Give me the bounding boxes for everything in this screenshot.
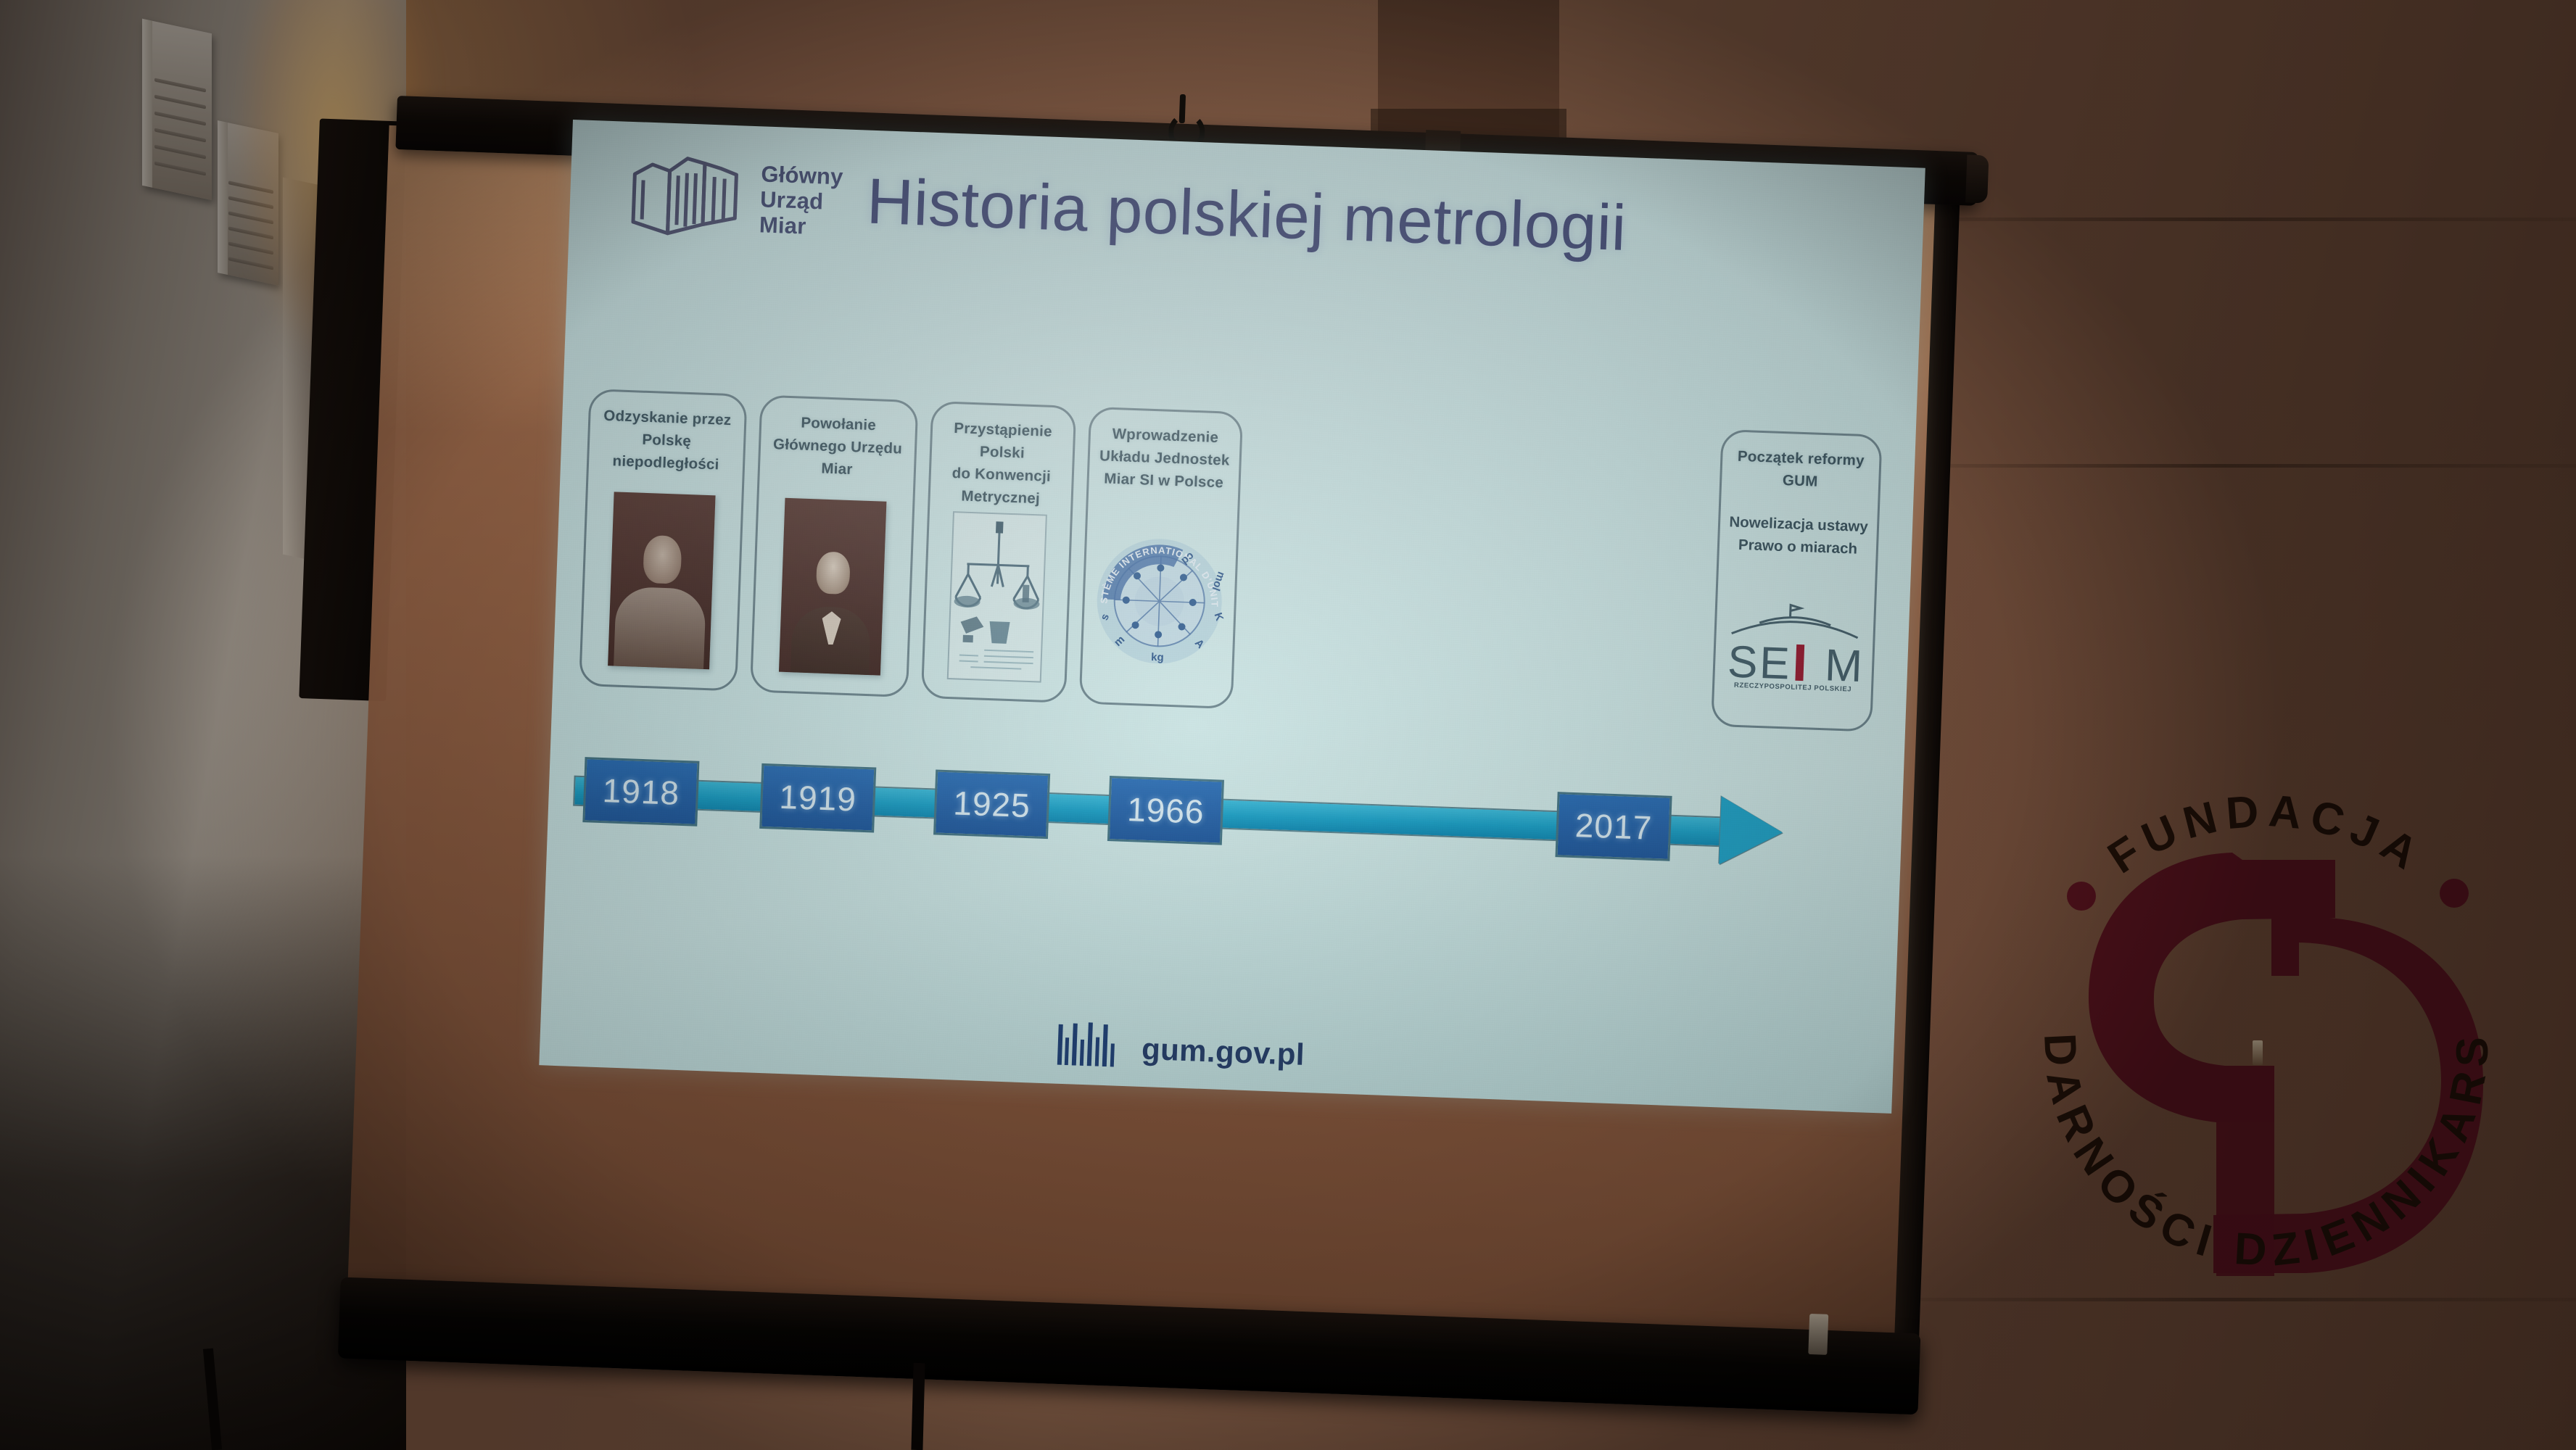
page-title: Historia polskiej metrologii	[569, 153, 1924, 276]
card-title: Przystąpienie Polskido KonwencjiMetryczn…	[937, 416, 1066, 511]
portrait-official	[779, 498, 886, 676]
sejm-letter-s: S	[1727, 637, 1759, 687]
card-title: WprowadzenieUkładu JednostekMiar SI w Po…	[1098, 422, 1231, 494]
timeline: 1918 1919 1925 1966 2017	[559, 743, 1888, 877]
timeline-year-1919[interactable]: 1919	[759, 763, 876, 833]
screen-support-leg	[911, 1363, 925, 1450]
card-gum-reform: Początek reformyGUM Nowelizacja ustawyPr…	[1711, 429, 1883, 732]
si-units-wheel: SYSTÈME INTERNATIONAL D'UNITÉS s m kg A …	[1091, 532, 1229, 670]
projected-slide: Główny Urząd Miar Historia polskiej metr…	[539, 120, 1925, 1114]
card-subtitle: Nowelizacja ustawyPrawo o miarach	[1728, 512, 1868, 561]
timeline-year-1925[interactable]: 1925	[933, 769, 1050, 839]
sejm-accent-bar	[1795, 645, 1804, 681]
balance-scale-document	[947, 511, 1047, 683]
card-independence: Odzyskanie przezPolskęniepodległości	[579, 389, 748, 692]
card-title: PowołanieGłównego UrzęduMiar	[772, 410, 903, 483]
screen-hook-icon	[1167, 94, 1197, 139]
timeline-year-2017[interactable]: 2017	[1555, 792, 1672, 861]
card-gum-founding: PowołanieGłównego UrzęduMiar	[750, 394, 919, 697]
sejm-letter-e: E	[1759, 638, 1791, 689]
card-si-units: WprowadzenieUkładu JednostekMiar SI w Po…	[1079, 407, 1244, 709]
timeline-year-1966[interactable]: 1966	[1107, 776, 1224, 845]
screen-pull-tab[interactable]	[1808, 1314, 1828, 1355]
portrait-pilsudski	[608, 492, 715, 669]
si-unit-kg: kg	[1151, 651, 1164, 664]
footer-url[interactable]: gum.gov.pl	[1141, 1032, 1305, 1074]
timeline-cards: Odzyskanie przezPolskęniepodległości Pow…	[566, 388, 1901, 747]
sejm-letter-m: M	[1824, 640, 1863, 692]
card-title: Odzyskanie przezPolskęniepodległości	[602, 405, 732, 477]
timeline-arrow-icon	[1719, 796, 1783, 866]
gum-bars-mark-icon	[1055, 1020, 1119, 1067]
photo-scene: FUNDACJA SOLIDARNOŚCI DZIENNIKARSKIEJ	[0, 0, 2576, 1450]
screen-support-leg	[203, 1348, 222, 1450]
card-title: Początek reformyGUM	[1736, 445, 1865, 495]
card-metric-convention: Przystąpienie Polskido KonwencjiMetryczn…	[921, 401, 1077, 703]
sejm-logo: S E M RZECZYPOSPOLITEJ POLSKIEJ	[1724, 601, 1865, 693]
timeline-year-1918[interactable]: 1918	[582, 757, 699, 826]
